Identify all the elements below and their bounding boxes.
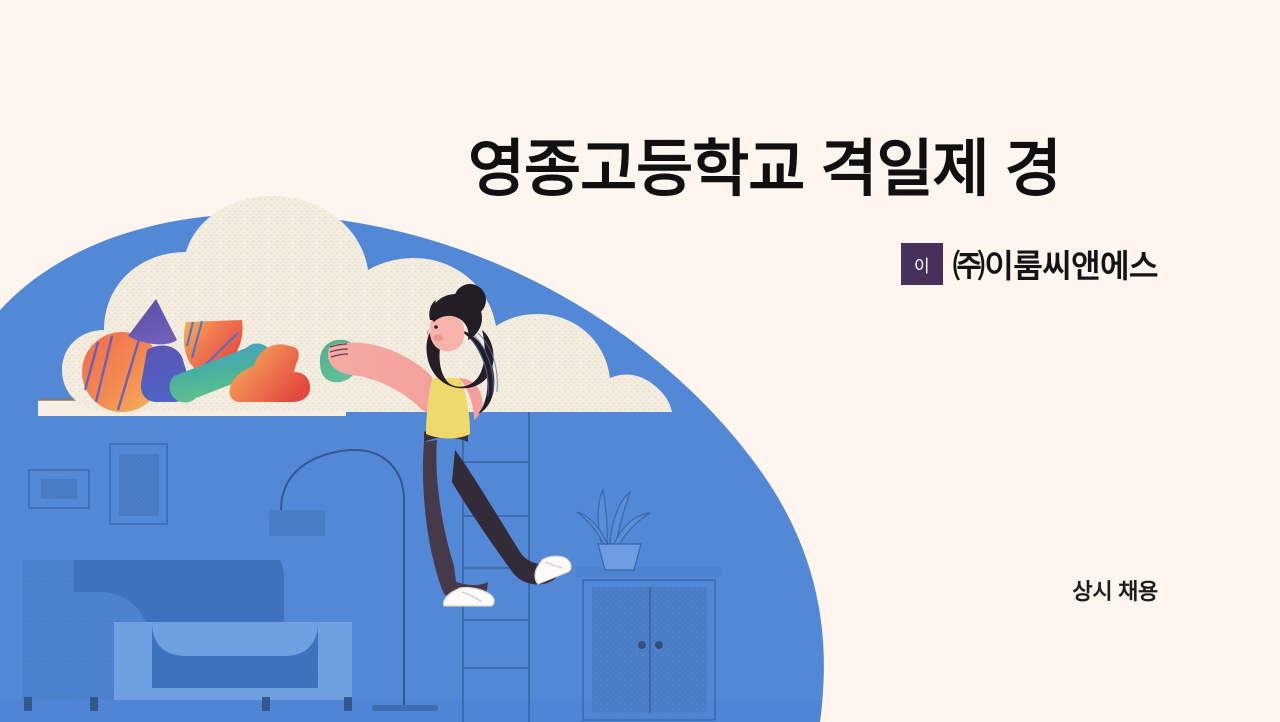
illustration xyxy=(0,0,850,722)
page-title: 영종고등학교 격일제 경 xyxy=(468,131,1158,209)
hair-bun xyxy=(454,284,486,316)
recruit-period-label: 상시 채용 xyxy=(1072,574,1158,606)
company-logo-badge: 이 xyxy=(901,243,943,285)
company-row[interactable]: 이 ㈜이룸씨앤에스 xyxy=(901,243,1158,285)
job-posting-poster: 영종고등학교 격일제 경 이 ㈜이룸씨앤에스 상시 채용 xyxy=(0,0,1280,722)
company-name[interactable]: ㈜이룸씨앤에스 xyxy=(953,241,1158,287)
cabinet xyxy=(576,567,722,720)
